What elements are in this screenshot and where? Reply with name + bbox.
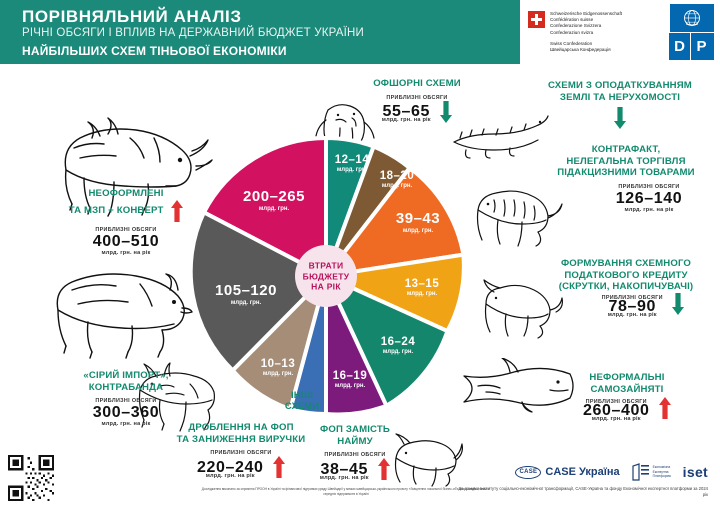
callout-amount-kontrafakt: 126–140 xyxy=(582,190,716,207)
page-subtitle-line1: РІЧНІ ОБСЯГИ І ВПЛИВ НА ДЕРЖАВНИЙ БЮДЖЕТ… xyxy=(22,27,364,39)
callout-title-line-1: ТА ЗАНИЖЕННЯ ВИРУЧКИ xyxy=(148,434,334,446)
callout-title-line-0: СХЕМИ З ОПОДАТКУВАННЯМ xyxy=(524,80,716,92)
callout-title-samozainiati: НЕФОРМАЛЬНІ САМОЗАЙНЯТІ xyxy=(542,372,712,395)
callout-siriy-import[interactable]: «СІРИЙ ІМПОРТ», КОНТРАБАНДА ПРИБЛИЗНІ ОБ… xyxy=(46,370,206,427)
arrow-up-icon xyxy=(659,397,671,419)
arrow-down-icon xyxy=(614,107,626,129)
callout-title-line-2: ПІДАКЦИЗНИМИ ТОВАРАМИ xyxy=(536,167,716,179)
callout-ofshorni[interactable]: ОФШОРНІ СХЕМИ ПРИБЛИЗНІ ОБСЯГИ 55–65 млр… xyxy=(352,78,482,123)
qr-code[interactable] xyxy=(8,455,54,501)
callout-title-line-2: (СКРУТКИ, НАКОПИЧУВАЧІ) xyxy=(536,281,716,293)
callout-zemlia[interactable]: СХЕМИ З ОПОДАТКУВАННЯМ ЗЕМЛІ ТА НЕРУХОМО… xyxy=(524,80,716,129)
iset-logo: iset xyxy=(683,464,708,480)
callout-title-line-1: ПОДАТКОВОГО КРЕДИТУ xyxy=(536,270,716,282)
partner-logos: Schweizerische Eidgenossenschaft Confédé… xyxy=(520,0,720,64)
case-ukraine-label: CASE Україна xyxy=(545,466,619,478)
arrow-up-icon xyxy=(273,456,285,478)
callout-title-line-0: «СІРИЙ ІМПОРТ», xyxy=(46,370,206,382)
callout-skrutky[interactable]: ФОРМУВАННЯ СХЕМНОГО ПОДАТКОВОГО КРЕДИТУ … xyxy=(536,258,716,315)
callout-inshi-skhemy[interactable]: ІНШІ СХЕМИ xyxy=(272,390,332,412)
callout-samozainiati[interactable]: НЕФОРМАЛЬНІ САМОЗАЙНЯТІ ПРИБЛИЗНІ ОБСЯГИ… xyxy=(542,372,712,419)
callout-unit-neoformleni: млрд. грн. на рік xyxy=(38,250,214,256)
callout-title-neoformleni: НЕОФОРМЛЕНІ ТА МЗП + КОНВЕРТ xyxy=(38,188,214,222)
callout-amount-neoformleni: 400–510 xyxy=(38,233,214,250)
page-header: ПОРІВНЯЛЬНИЙ АНАЛІЗ РІЧНІ ОБСЯГИ І ВПЛИВ… xyxy=(0,0,720,64)
un-globe-icon xyxy=(670,4,714,32)
undp-logo: U N xyxy=(670,4,714,60)
eep-line-2: Платформа xyxy=(653,474,671,478)
pie-center-hole xyxy=(295,245,357,307)
eep-icon xyxy=(632,463,650,481)
callout-title-line-0: ФОРМУВАННЯ СХЕМНОГО xyxy=(536,258,716,270)
footer-note-left: Дослідження виконано за сприяння ПРООН в… xyxy=(196,487,496,497)
callout-amount-siriy-import: 300–360 xyxy=(46,404,206,421)
callout-title-line-1: СХЕМИ xyxy=(272,401,332,412)
callout-fop-zamist-naimu[interactable]: ФОП ЗАМІСТЬ НАЙМУ ПРИБЛИЗНІ ОБСЯГИ 38–45… xyxy=(312,424,398,480)
callout-title-line-1: КОНТРАБАНДА xyxy=(46,382,206,394)
callout-title-line-0: ФОП ЗАМІСТЬ xyxy=(312,424,398,436)
swiss-confederation-label: Schweizerische Eidgenossenschaft Confédé… xyxy=(550,11,666,53)
callout-title-inshi: ІНШІ СХЕМИ xyxy=(272,390,332,412)
callout-title-line-0: ОФШОРНІ СХЕМИ xyxy=(352,78,482,90)
pie-chart-svg xyxy=(180,130,472,422)
callout-title-line-0: ІНШІ xyxy=(272,390,332,401)
callout-title-line-0: НЕФОРМАЛЬНІ xyxy=(542,372,712,384)
bear-illustration xyxy=(44,252,194,362)
footer-note-right: За даними Інституту соціально-економічно… xyxy=(458,486,708,498)
callout-unit-kontrafakt: млрд. грн. на рік xyxy=(582,207,716,213)
arrow-down-icon xyxy=(440,101,452,123)
callout-title-line-1: ЗЕМЛІ ТА НЕРУХОМОСТІ xyxy=(524,92,716,104)
callout-neoformleni[interactable]: НЕОФОРМЛЕНІ ТА МЗП + КОНВЕРТ ПРИБЛИЗНІ О… xyxy=(38,188,214,256)
page-subtitle-line2: НАЙБІЛЬШИХ СХЕМ ТІНЬОВОЇ ЕКОНОМІКИ xyxy=(22,44,287,58)
pie-chart: ВТРАТИ БЮДЖЕТУ НА РІК 200–265 млрд. грн.… xyxy=(180,130,472,422)
callout-droblennia[interactable]: ДРОБЛЕННЯ НА ФОП ТА ЗАНИЖЕННЯ ВИРУЧКИ ПР… xyxy=(148,422,334,478)
undp-letter-n: N xyxy=(692,32,714,60)
page-title: ПОРІВНЯЛЬНИЙ АНАЛІЗ xyxy=(22,7,242,27)
callout-title-siriy-import: «СІРИЙ ІМПОРТ», КОНТРАБАНДА xyxy=(46,370,206,393)
callout-title-line-1: ТА МЗП + КОНВЕРТ xyxy=(69,205,164,217)
eep-label: Економічна Експертна Платформа xyxy=(653,465,671,478)
swiss-cross-icon xyxy=(528,11,545,28)
callout-title-line-0: КОНТРАФАКТ, xyxy=(536,144,716,156)
callout-title-line-1: НАЙМУ xyxy=(312,436,398,448)
swiss-line-5: Швейцарська Конфедерація xyxy=(550,47,666,53)
eep-logo: Економічна Експертна Платформа xyxy=(632,463,671,481)
callout-title-line-0: НЕОФОРМЛЕНІ xyxy=(38,188,214,200)
callout-title-fop: ФОП ЗАМІСТЬ НАЙМУ xyxy=(312,424,398,447)
callout-title-line-0: ДРОБЛЕННЯ НА ФОП xyxy=(148,422,334,434)
callout-title-skrutky: ФОРМУВАННЯ СХЕМНОГО ПОДАТКОВОГО КРЕДИТУ … xyxy=(536,258,716,293)
callout-kontrafakt[interactable]: КОНТРАФАКТ, НЕЛЕГАЛЬНА ТОРГІВЛЯ ПІДАКЦИЗ… xyxy=(536,144,716,213)
arrow-up-icon xyxy=(378,458,390,480)
callout-title-zemlia: СХЕМИ З ОПОДАТКУВАННЯМ ЗЕМЛІ ТА НЕРУХОМО… xyxy=(524,80,716,103)
arrow-down-icon xyxy=(672,293,684,315)
footer-logos: CASE CASE Україна Економічна Експертна П… xyxy=(498,460,708,484)
callout-title-droblennia: ДРОБЛЕННЯ НА ФОП ТА ЗАНИЖЕННЯ ВИРУЧКИ xyxy=(148,422,334,445)
callout-title-line-1: НЕЛЕГАЛЬНА ТОРГІВЛЯ xyxy=(536,156,716,168)
swiss-line-3: Confederaziun svizra xyxy=(550,30,666,36)
case-mark-icon: CASE xyxy=(515,466,541,479)
callout-title-line-1: САМОЗАЙНЯТІ xyxy=(542,384,712,396)
callout-title-kontrafakt: КОНТРАФАКТ, НЕЛЕГАЛЬНА ТОРГІВЛЯ ПІДАКЦИЗ… xyxy=(536,144,716,179)
dog-illustration xyxy=(388,432,466,490)
undp-letter-u: U xyxy=(670,32,692,60)
callout-title-ofshorni: ОФШОРНІ СХЕМИ xyxy=(352,78,482,90)
arrow-up-icon xyxy=(171,200,183,222)
case-ukraine-logo: CASE CASE Україна xyxy=(515,466,619,479)
